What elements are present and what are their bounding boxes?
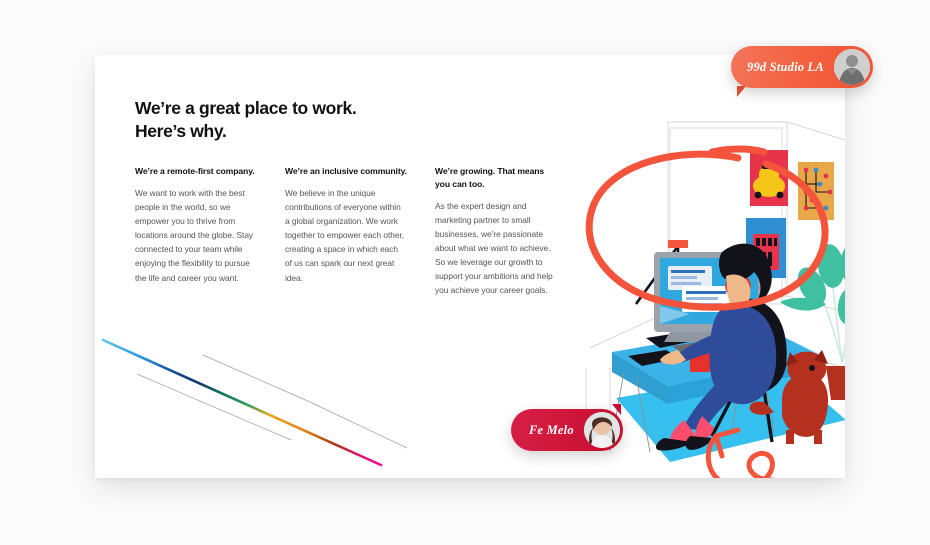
- poster-taxi: [750, 150, 788, 206]
- avatar-fe-melo: [584, 412, 620, 448]
- column-body: As the expert design and marketing partn…: [435, 199, 557, 298]
- plant-pot: [826, 366, 845, 400]
- column-body: We want to work with the best people in …: [135, 186, 257, 285]
- page-title: We’re a great place to work. Here’s why.: [135, 97, 495, 144]
- collaborator-badge-fe[interactable]: Fe Melo: [511, 409, 623, 451]
- column-growing: We’re growing. That means you can too. A…: [435, 165, 557, 298]
- gradient-diagonal-line: [95, 330, 425, 478]
- guide-line-right: [310, 402, 407, 448]
- gradient-stroke: [103, 340, 381, 465]
- column-inclusive-community: We’re an inclusive community. We believe…: [285, 165, 407, 298]
- column-heading: We’re a remote-first company.: [135, 165, 257, 178]
- column-heading: We’re growing. That means you can too.: [435, 165, 557, 191]
- page-title-line-1: We’re a great place to work.: [135, 97, 495, 120]
- value-prop-columns: We’re a remote-first company. We want to…: [135, 165, 575, 298]
- avatar-99d-studio-la: [834, 49, 870, 85]
- page-title-line-2: Here’s why.: [135, 120, 495, 143]
- column-heading: We’re an inclusive community.: [285, 165, 407, 178]
- cursor-pointer-studio: [737, 86, 746, 97]
- guide-line-lower: [137, 374, 291, 440]
- slide-card[interactable]: We’re a great place to work. Here’s why.…: [95, 55, 845, 478]
- poster-circuit: [798, 162, 834, 220]
- collaborator-name: 99d Studio LA: [747, 60, 824, 75]
- column-body: We believe in the unique contributions o…: [285, 186, 407, 285]
- collaborator-name: Fe Melo: [529, 423, 574, 438]
- circle-annotation-tail: [712, 149, 764, 152]
- guide-line-upper: [203, 355, 310, 402]
- collaborator-badge-studio[interactable]: 99d Studio LA: [731, 46, 873, 88]
- slide-canvas: We’re a great place to work. Here’s why.…: [0, 0, 930, 545]
- column-remote-first: We’re a remote-first company. We want to…: [135, 165, 257, 298]
